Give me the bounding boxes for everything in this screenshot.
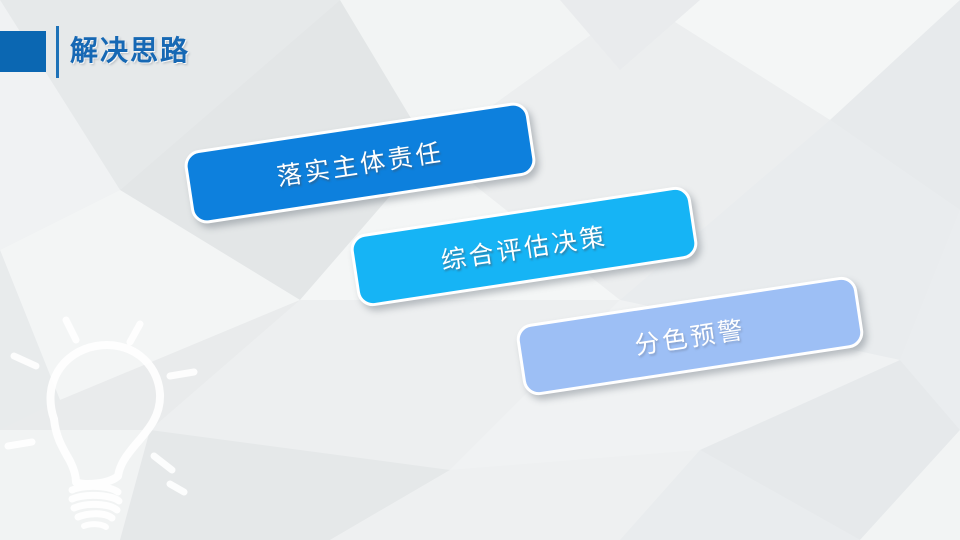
slide-canvas: 解决思路 落实主体责任 综合评估决策 分色预警 bbox=[0, 0, 960, 540]
banner-label: 分色预警 bbox=[632, 310, 748, 362]
header-accent-square bbox=[0, 31, 46, 72]
banner-label: 落实主体责任 bbox=[274, 133, 446, 194]
header-accent-rule bbox=[56, 26, 59, 78]
page-title: 解决思路 bbox=[70, 33, 190, 69]
slide-header: 解决思路 bbox=[0, 0, 620, 104]
banner-label: 综合评估决策 bbox=[438, 216, 610, 277]
